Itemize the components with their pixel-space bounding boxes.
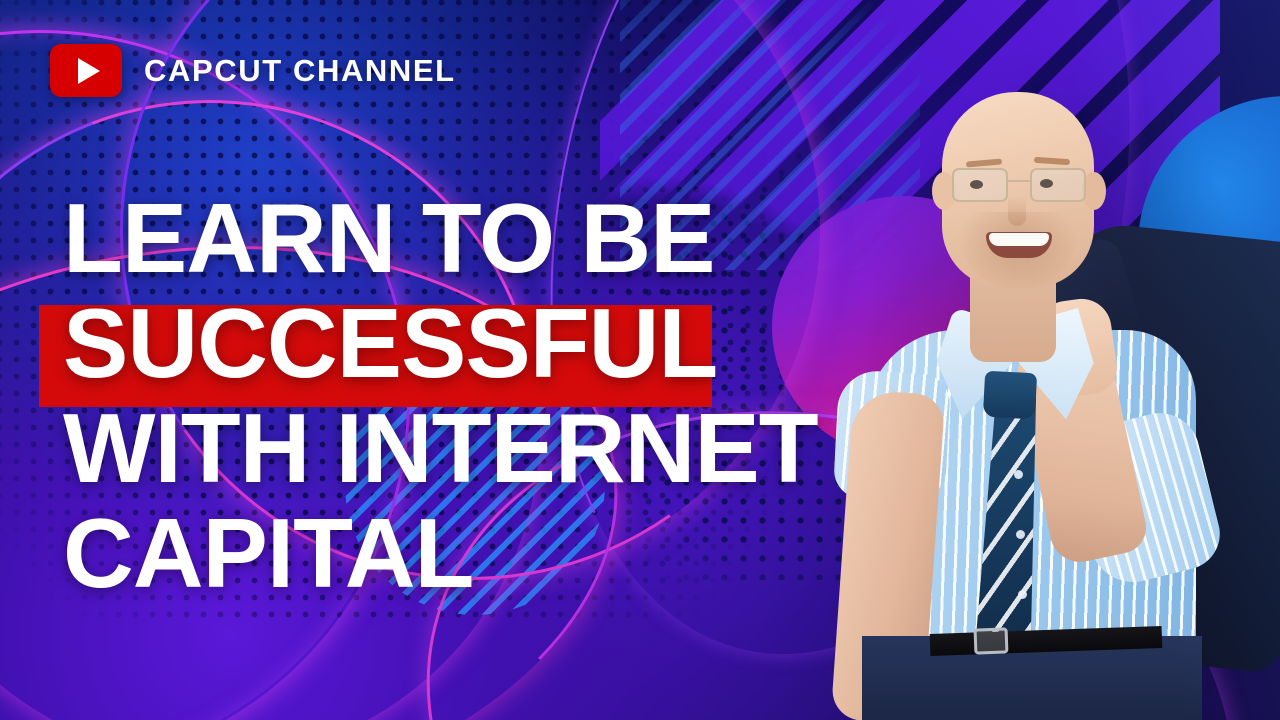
nose [1008, 196, 1026, 226]
headline-line-3: WITH INTERNET [63, 396, 883, 501]
headline-line-2: SUCCESSFUL [63, 291, 717, 396]
shirt-button [1018, 590, 1027, 599]
shirt-button [1016, 530, 1025, 539]
channel-name-label: CAPCUT CHANNEL [144, 53, 456, 89]
belt-buckle [974, 627, 1009, 654]
necktie-knot [983, 371, 1037, 420]
headline-line-1: LEARN TO BE [63, 186, 883, 291]
shirt-button [1014, 470, 1023, 479]
headline-block: LEARN TO BE SUCCESSFUL WITH INTERNET CAP… [63, 186, 883, 606]
play-triangle-icon [78, 58, 100, 84]
channel-badge[interactable]: CAPCUT CHANNEL [50, 44, 456, 97]
smiling-mouth [986, 232, 1052, 258]
headline-highlight-row: SUCCESSFUL [51, 291, 729, 396]
presenter-photo [818, 0, 1280, 720]
youtube-thumbnail: CAPCUT CHANNEL LEARN TO BE SUCCESSFUL WI… [0, 0, 1280, 720]
youtube-play-icon[interactable] [50, 44, 122, 97]
headline-line-4: CAPITAL [63, 501, 883, 606]
